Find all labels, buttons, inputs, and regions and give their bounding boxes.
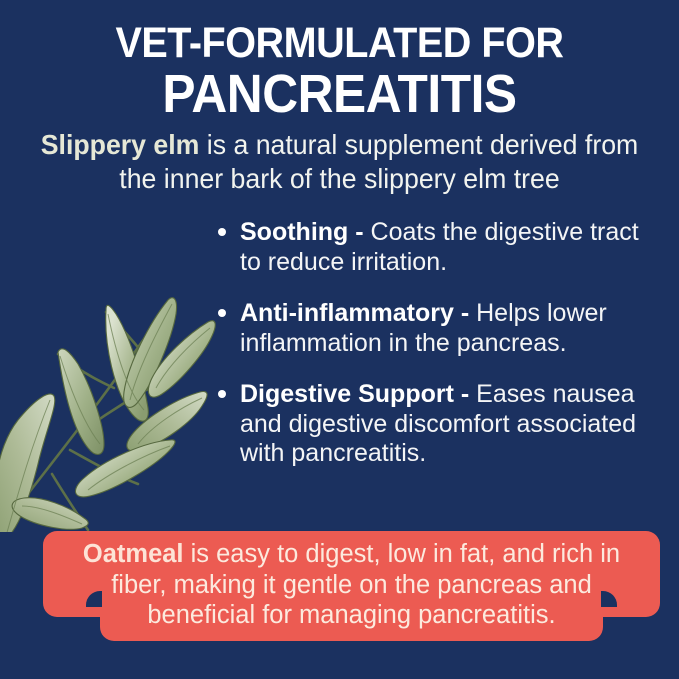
oatmeal-callout: Oatmeal is easy to digest, low in fat, a… bbox=[43, 531, 660, 641]
leaf-sprig-icon bbox=[0, 212, 222, 532]
subtitle: Slippery elm is a natural supplement der… bbox=[28, 128, 652, 195]
leaf-veins bbox=[6, 304, 210, 532]
callout-text: Oatmeal is easy to digest, low in fat, a… bbox=[57, 539, 646, 631]
list-item: Soothing - Coats the digestive tract to … bbox=[212, 218, 652, 277]
benefit-term: Soothing bbox=[240, 218, 348, 246]
benefit-separator: - bbox=[454, 299, 476, 327]
headline-line-2: PANCREATITIS bbox=[27, 68, 652, 121]
callout-accent-term: Oatmeal bbox=[83, 540, 184, 568]
page-title: VET-FORMULATED FOR PANCREATITIS bbox=[0, 22, 679, 121]
benefit-separator: - bbox=[454, 380, 476, 408]
leaf-stem bbox=[14, 304, 168, 530]
benefit-separator: - bbox=[348, 218, 370, 246]
benefit-term: Digestive Support bbox=[240, 380, 454, 408]
subtitle-accent-term: Slippery elm bbox=[41, 129, 200, 160]
leaf-blades bbox=[0, 298, 215, 532]
infographic-canvas: VET-FORMULATED FOR PANCREATITIS Slippery… bbox=[0, 0, 679, 679]
benefits-list: Soothing - Coats the digestive tract to … bbox=[212, 218, 652, 469]
callout-rest: is easy to digest, low in fat, and rich … bbox=[111, 540, 620, 629]
list-item: Anti-inflammatory - Helps lower inflamma… bbox=[212, 299, 652, 358]
headline-line-1: VET-FORMULATED FOR bbox=[27, 22, 652, 64]
benefit-term: Anti-inflammatory bbox=[240, 299, 454, 327]
bullet-dot-icon bbox=[218, 228, 226, 236]
leaf-sprig-svg bbox=[0, 212, 222, 532]
bullet-dot-icon bbox=[218, 390, 226, 398]
bullet-dot-icon bbox=[218, 309, 226, 317]
list-item: Digestive Support - Eases nausea and dig… bbox=[212, 380, 652, 469]
